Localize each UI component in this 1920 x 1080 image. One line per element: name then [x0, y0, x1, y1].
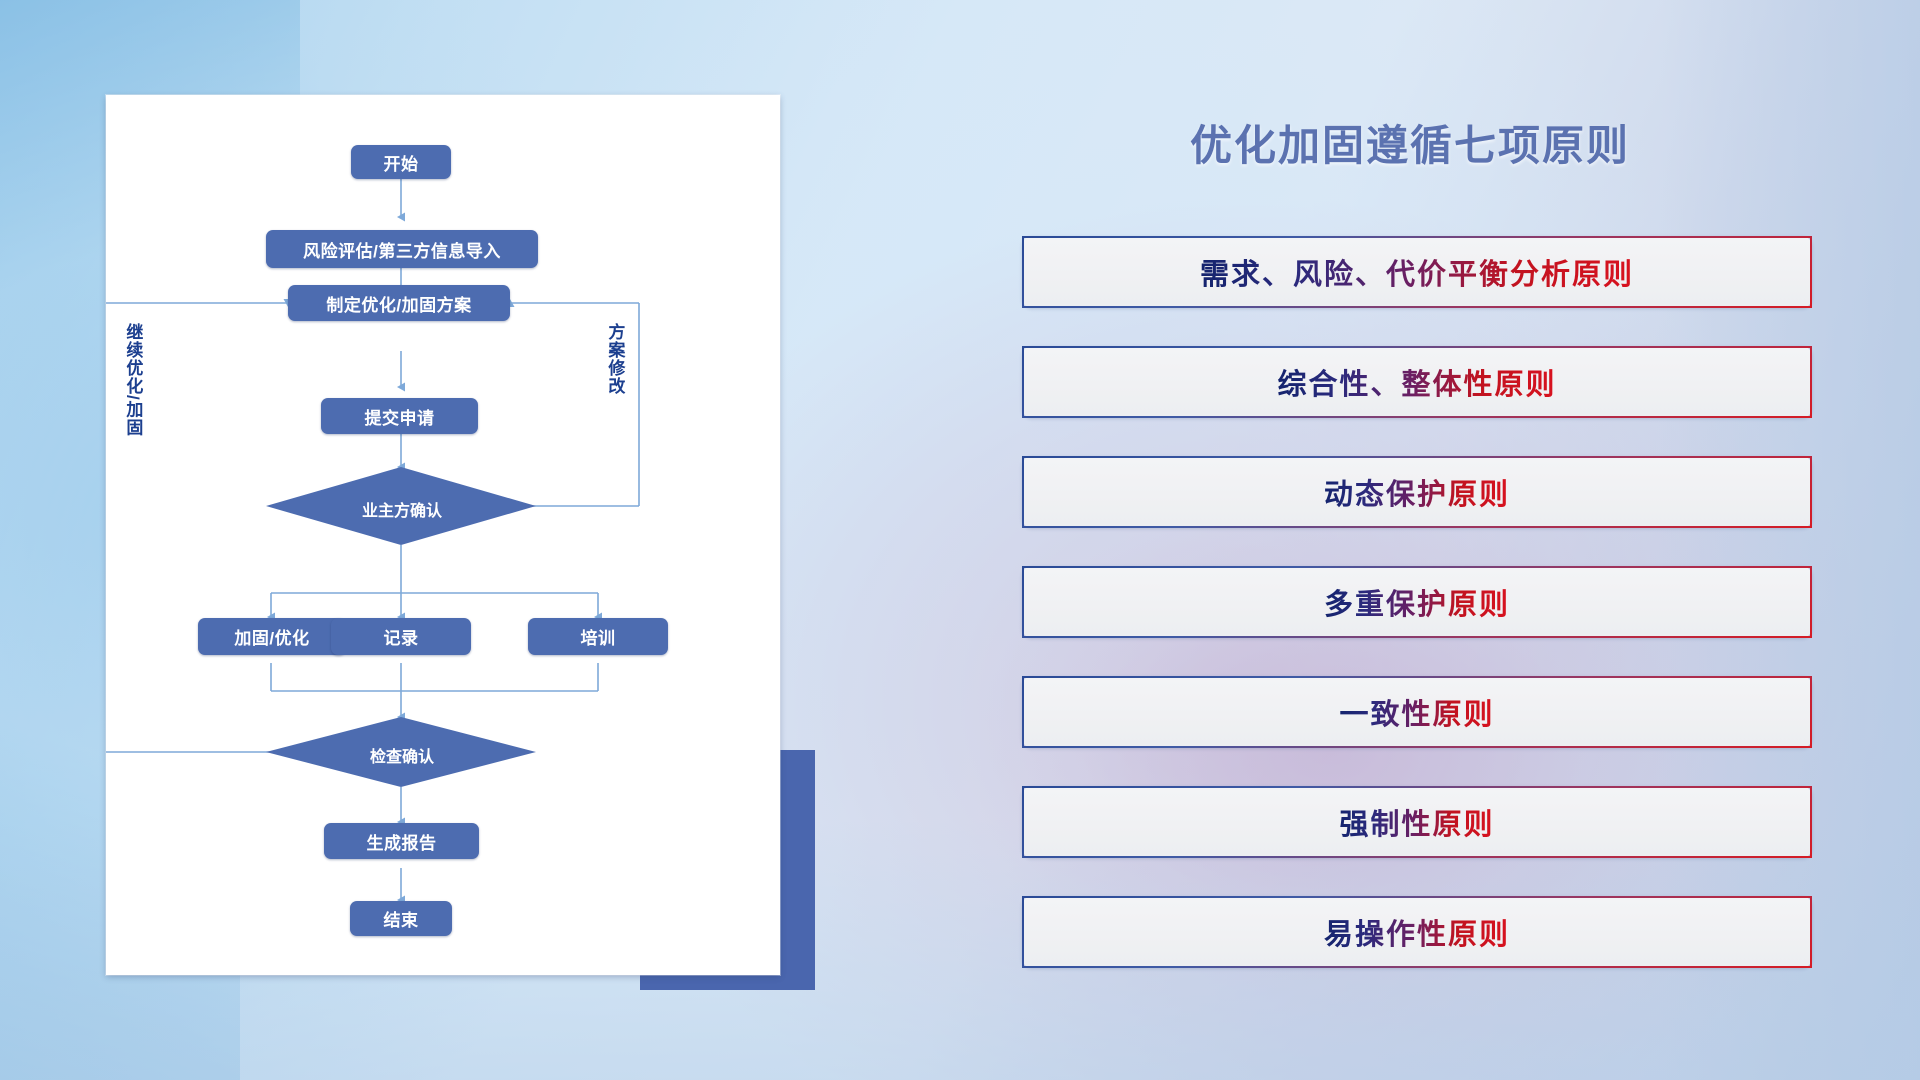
flow-node-submit-label: 提交申请 [365, 404, 435, 429]
flow-node-end[interactable]: 结束 [350, 901, 452, 936]
flow-node-training[interactable]: 培训 [528, 618, 668, 655]
principle-item-6[interactable]: 强制性原则 [1022, 786, 1812, 858]
flow-node-reinforce-label: 加固/优化 [234, 624, 309, 649]
flow-node-training-label: 培训 [581, 624, 616, 649]
flow-node-risk-assessment[interactable]: 风险评估/第三方信息导入 [266, 230, 538, 268]
principle-item-5[interactable]: 一致性原则 [1022, 676, 1812, 748]
principle-item-1[interactable]: 需求、风险、代价平衡分析原则 [1022, 236, 1812, 308]
principle-item-3[interactable]: 动态保护原则 [1022, 456, 1812, 528]
principle-item-4[interactable]: 多重保护原则 [1022, 566, 1812, 638]
principle-item-5-label: 一致性原则 [1339, 691, 1494, 733]
decision-check-diamond [266, 717, 536, 787]
flow-node-record[interactable]: 记录 [331, 618, 471, 655]
principle-item-6-label: 强制性原则 [1339, 801, 1494, 843]
flow-node-start-label: 开始 [384, 150, 419, 175]
principle-item-7[interactable]: 易操作性原则 [1022, 896, 1812, 968]
flow-node-risk-assessment-label: 风险评估/第三方信息导入 [303, 237, 501, 262]
flow-node-start[interactable]: 开始 [351, 145, 451, 179]
flow-node-report-label: 生成报告 [367, 829, 437, 854]
flow-node-plan[interactable]: 制定优化/加固方案 [288, 285, 510, 321]
flow-edge-label-plan-revise: 方案修改 [606, 323, 623, 395]
flow-node-plan-label: 制定优化/加固方案 [326, 291, 471, 316]
principle-item-7-label: 易操作性原则 [1324, 911, 1510, 953]
flow-node-reinforce[interactable]: 加固/优化 [198, 618, 346, 655]
principles-list: 需求、风险、代价平衡分析原则 综合性、整体性原则 动态保护原则 多重保护原则 一… [1022, 236, 1812, 1006]
principle-item-2[interactable]: 综合性、整体性原则 [1022, 346, 1812, 418]
decision-owner-diamond [266, 467, 536, 545]
flow-node-record-label: 记录 [384, 624, 419, 649]
principle-item-3-label: 动态保护原则 [1324, 471, 1510, 513]
flow-node-submit[interactable]: 提交申请 [321, 398, 478, 434]
flow-edge-label-continue-optimize: 继续优化/加固 [124, 323, 141, 437]
principle-item-1-label: 需求、风险、代价平衡分析原则 [1200, 251, 1634, 293]
flowchart-card: 开始 风险评估/第三方信息导入 制定优化/加固方案 提交申请 业主方确认 加固/… [106, 95, 780, 975]
flow-node-report[interactable]: 生成报告 [324, 823, 479, 859]
panel-title: 优化加固遵循七项原则 [1030, 112, 1790, 173]
principle-item-2-label: 综合性、整体性原则 [1277, 361, 1556, 403]
flowchart: 开始 风险评估/第三方信息导入 制定优化/加固方案 提交申请 业主方确认 加固/… [106, 95, 780, 975]
principle-item-4-label: 多重保护原则 [1324, 581, 1510, 623]
flow-node-end-label: 结束 [384, 906, 419, 931]
